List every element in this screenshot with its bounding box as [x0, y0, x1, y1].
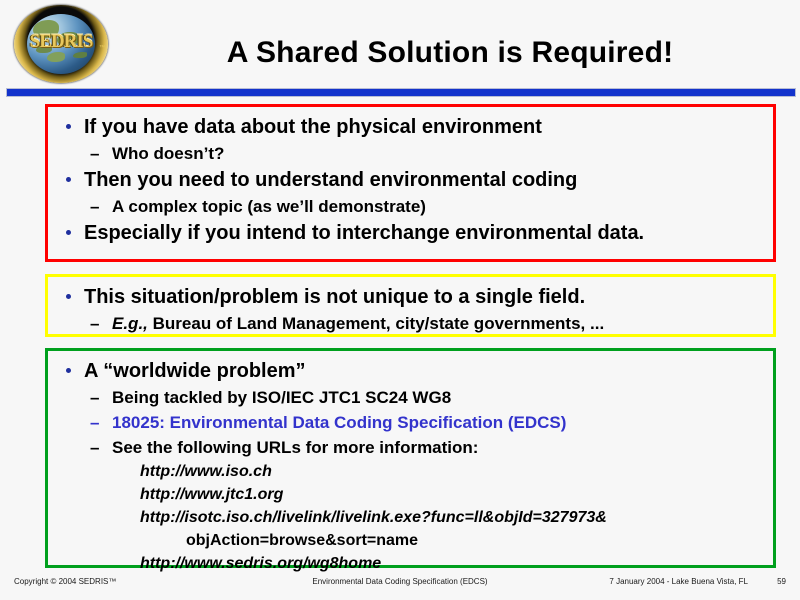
sub-bullet-text: 18025: Environmental Data Coding Specifi…	[112, 413, 566, 432]
bullet-item: If you have data about the physical envi…	[56, 113, 765, 141]
content-box-red-inner: If you have data about the physical envi…	[48, 107, 773, 247]
slide-header: SEDRIS ™ A Shared Solution is Required!	[0, 0, 800, 88]
sub-bullet-text: A complex topic (as we’ll demonstrate)	[112, 197, 426, 216]
url-link[interactable]: http://www.sedris.org/wg8home	[56, 552, 765, 575]
sub-bullet-item: – Being tackled by ISO/IEC JTC1 SC24 WG8	[56, 385, 765, 410]
bullet-dot-icon	[66, 177, 71, 182]
sub-bullet-text: Bureau of Land Management, city/state go…	[148, 314, 604, 333]
logo-wordmark: SEDRIS	[14, 31, 108, 53]
url-link[interactable]: http://www.jtc1.org	[56, 483, 765, 506]
dash-icon: –	[90, 385, 99, 410]
bullet-dot-icon	[66, 230, 71, 235]
url-link[interactable]: http://isotc.iso.ch/livelink/livelink.ex…	[56, 506, 765, 529]
sub-bullet-item: – A complex topic (as we’ll demonstrate)	[56, 194, 765, 219]
sub-bullet-item: – Who doesn’t?	[56, 141, 765, 166]
sub-bullet-text: Who doesn’t?	[112, 144, 224, 163]
url-link-continuation[interactable]: objAction=browse&sort=name	[56, 529, 765, 552]
bullet-dot-icon	[66, 368, 71, 373]
footer-page-number: 59	[777, 577, 786, 586]
page-title: A Shared Solution is Required!	[120, 36, 780, 70]
bullet-dot-icon	[66, 294, 71, 299]
sub-bullet-text: See the following URLs for more informat…	[112, 438, 478, 457]
bullet-text: If you have data about the physical envi…	[84, 116, 542, 138]
dash-icon: –	[90, 311, 99, 336]
logo-trademark-icon: ™	[99, 45, 105, 51]
sedris-logo: SEDRIS ™	[14, 5, 111, 85]
sub-bullet-item: – See the following URLs for more inform…	[56, 435, 765, 460]
bullet-item: This situation/problem is not unique to …	[56, 283, 765, 311]
dash-icon: –	[90, 194, 99, 219]
slide-footer: Copyright © 2004 SEDRIS™ Environmental D…	[0, 574, 800, 596]
sub-bullet-emphasis: E.g.,	[112, 314, 148, 333]
bullet-text: Then you need to understand environmenta…	[84, 169, 577, 191]
dash-icon: –	[90, 410, 99, 435]
bullet-item: A “worldwide problem”	[56, 357, 765, 385]
dash-icon: –	[90, 141, 99, 166]
bullet-dot-icon	[66, 124, 71, 129]
sub-bullet-item: – E.g., Bureau of Land Management, city/…	[56, 311, 765, 336]
content-box-red: If you have data about the physical envi…	[45, 104, 776, 262]
footer-date-location: 7 January 2004 - Lake Buena Vista, FL	[609, 577, 748, 586]
bullet-item: Then you need to understand environmenta…	[56, 166, 765, 194]
content-box-yellow-inner: This situation/problem is not unique to …	[48, 277, 773, 336]
title-divider	[6, 88, 796, 97]
content-box-yellow: This situation/problem is not unique to …	[45, 274, 776, 337]
bullet-text: Especially if you intend to interchange …	[84, 222, 644, 244]
bullet-text: This situation/problem is not unique to …	[84, 286, 585, 308]
dash-icon: –	[90, 435, 99, 460]
content-box-green-inner: A “worldwide problem” – Being tackled by…	[48, 351, 773, 575]
bullet-text: A “worldwide problem”	[84, 360, 306, 382]
bullet-item: Especially if you intend to interchange …	[56, 219, 765, 247]
sub-bullet-item-standard-link[interactable]: – 18025: Environmental Data Coding Speci…	[56, 410, 765, 435]
content-box-green: A “worldwide problem” – Being tackled by…	[45, 348, 776, 568]
sub-bullet-text: Being tackled by ISO/IEC JTC1 SC24 WG8	[112, 388, 451, 407]
url-link[interactable]: http://www.iso.ch	[56, 460, 765, 483]
